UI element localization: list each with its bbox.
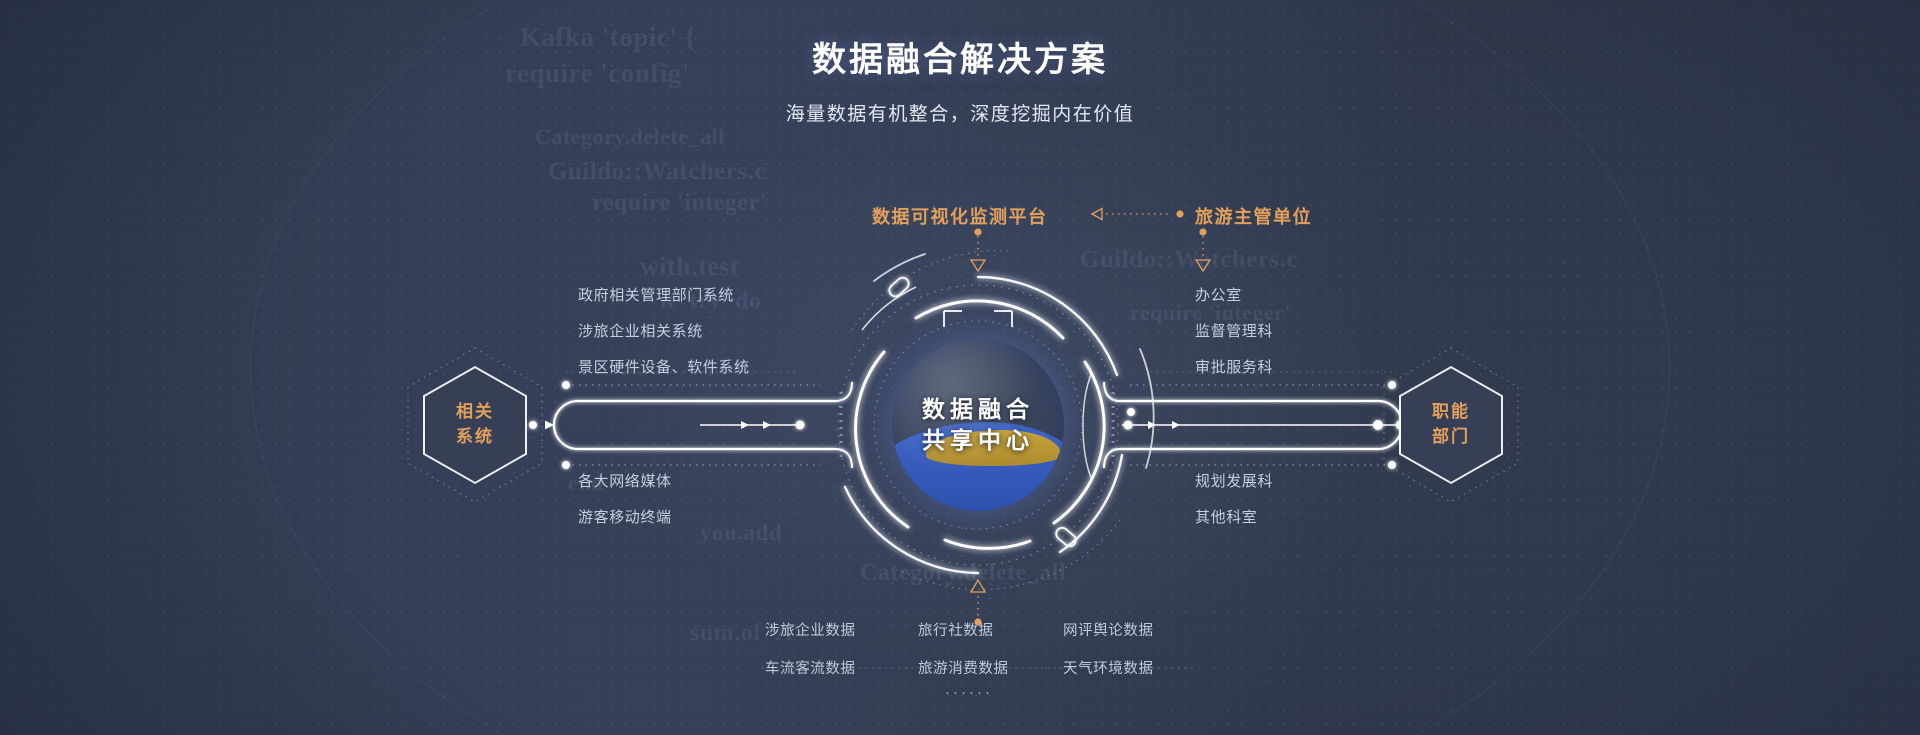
hexagon-left-label: 相关 系统 bbox=[456, 400, 494, 449]
label-bottom-data-r1c2[interactable]: 天气环境数据 bbox=[1063, 657, 1154, 678]
label-right-department-lower-0[interactable]: 规划发展科 bbox=[1195, 470, 1273, 491]
label-visualization-platform[interactable]: 数据可视化监测平台 bbox=[872, 203, 1048, 229]
label-bottom-data-r0c0[interactable]: 涉旅企业数据 bbox=[765, 619, 856, 640]
label-right-department-lower-1[interactable]: 其他科室 bbox=[1195, 506, 1257, 527]
label-left-source-lower-1[interactable]: 游客移动终端 bbox=[578, 506, 672, 527]
label-bottom-data-r0c2[interactable]: 网评舆论数据 bbox=[1063, 619, 1154, 640]
center-label-line1: 数据融合 bbox=[868, 394, 1088, 425]
label-right-department-1[interactable]: 监督管理科 bbox=[1195, 320, 1273, 341]
page-subtitle: 海量数据有机整合，深度挖掘内在价值 bbox=[0, 99, 1920, 126]
page-title: 数据融合解决方案 bbox=[0, 32, 1920, 81]
label-bottom-data-r1c0[interactable]: 车流客流数据 bbox=[765, 657, 856, 678]
label-left-source-1[interactable]: 涉旅企业相关系统 bbox=[578, 320, 703, 341]
label-left-source-0[interactable]: 政府相关管理部门系统 bbox=[578, 284, 734, 305]
label-right-department-0[interactable]: 办公室 bbox=[1195, 284, 1242, 305]
label-left-source-2[interactable]: 景区硬件设备、软件系统 bbox=[578, 356, 750, 377]
label-left-source-lower-0[interactable]: 各大网络媒体 bbox=[578, 470, 672, 491]
header: 数据融合解决方案 海量数据有机整合，深度挖掘内在价值 bbox=[0, 32, 1920, 126]
label-tourism-authority[interactable]: 旅游主管单位 bbox=[1195, 203, 1312, 229]
hexagon-functional-departments[interactable]: 职能 部门 bbox=[1399, 366, 1503, 484]
center-label: 数据融合 共享中心 bbox=[868, 394, 1088, 456]
hexagon-right-line1: 职能 bbox=[1432, 400, 1470, 425]
hexagon-right-label: 职能 部门 bbox=[1432, 400, 1470, 449]
center-label-line2: 共享中心 bbox=[868, 425, 1088, 456]
hexagon-related-systems[interactable]: 相关 系统 bbox=[423, 366, 527, 484]
label-right-department-2[interactable]: 审批服务科 bbox=[1195, 356, 1273, 377]
hexagon-left-line2: 系统 bbox=[456, 425, 494, 450]
hexagon-right-line2: 部门 bbox=[1432, 425, 1470, 450]
hexagon-left-line1: 相关 bbox=[456, 400, 494, 425]
label-bottom-data-r1c1[interactable]: 旅游消费数据 bbox=[918, 657, 1009, 678]
label-bottom-more: ······ bbox=[945, 684, 993, 701]
label-bottom-data-r0c1[interactable]: 旅行社数据 bbox=[918, 619, 994, 640]
center-orb: 数据融合 共享中心 bbox=[828, 275, 1128, 575]
